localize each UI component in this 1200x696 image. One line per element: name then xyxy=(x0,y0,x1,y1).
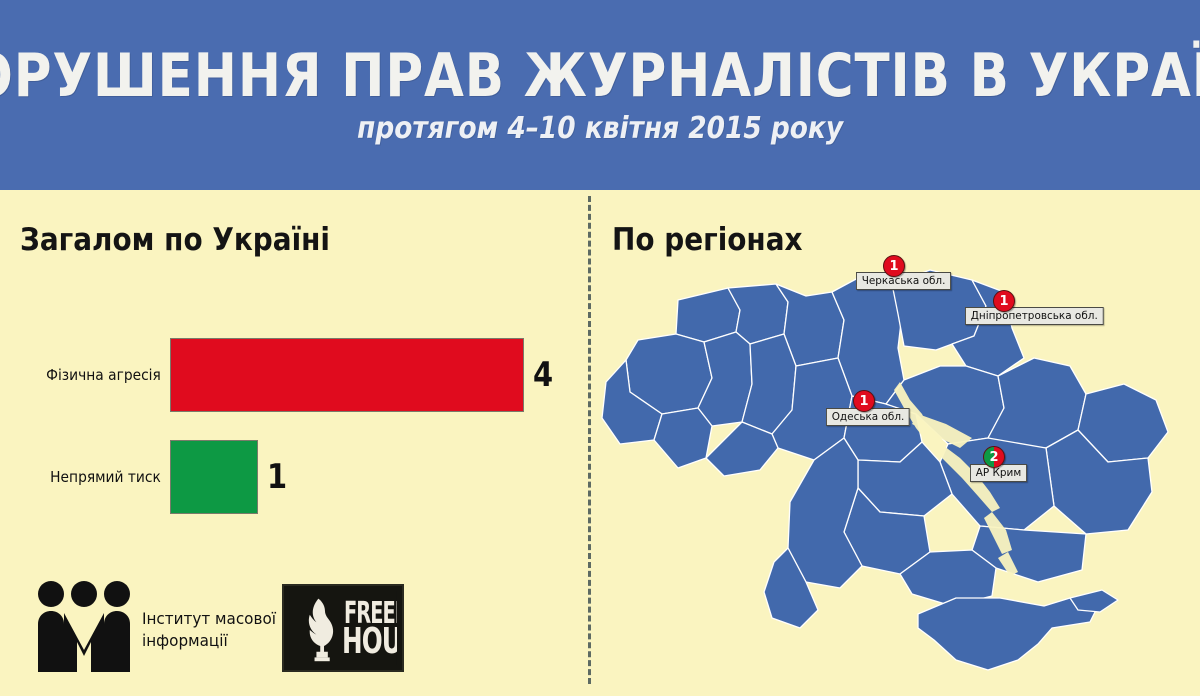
freedom-house-logo: FREEDOM HOUSE xyxy=(282,584,404,672)
imi-logo-label: Інститут масової інформації xyxy=(142,608,276,652)
map-marker-cherkasy[interactable]: 1 xyxy=(883,255,905,277)
ukraine-map: 1 Черкаська обл. 1 Дніпропетровська обл.… xyxy=(600,262,1200,682)
map-label-cherkasy[interactable]: Черкаська обл. xyxy=(856,272,951,290)
panel-divider xyxy=(588,196,591,684)
logo-strip: Інститут масової інформації FREEDOM HOUS… xyxy=(34,572,454,682)
ukraine-map-svg xyxy=(600,262,1200,682)
bar-label-indirect-pressure: Непрямий тиск xyxy=(14,468,170,486)
page-subtitle: протягом 4–10 квітня 2015 року xyxy=(357,113,843,145)
bar-label-physical-aggression: Фізична агресія xyxy=(14,366,170,384)
map-marker-dnipropetrovsk[interactable]: 1 xyxy=(993,290,1015,312)
map-marker-crimea[interactable]: 2 xyxy=(983,446,1005,468)
bar-chart: Фізична агресія 4 Непрямий тиск 1 xyxy=(0,318,588,518)
imi-logo-icon xyxy=(34,580,134,672)
bar-row: Непрямий тиск 1 xyxy=(0,440,291,514)
map-marker-count: 1 xyxy=(999,294,1008,309)
map-marker-count: 1 xyxy=(889,259,898,274)
right-panel-title: По регіонах xyxy=(612,222,803,258)
map-marker-count: 2 xyxy=(989,450,998,465)
bar-indirect-pressure xyxy=(170,440,258,514)
bar-value-physical-aggression: 4 xyxy=(533,355,553,395)
freedom-house-torch-icon: FREEDOM HOUSE xyxy=(289,591,397,665)
bar-value-indirect-pressure: 1 xyxy=(267,457,287,497)
map-label-dnipropetrovsk[interactable]: Дніпропетровська обл. xyxy=(965,307,1103,325)
bar-physical-aggression xyxy=(170,338,524,412)
left-panel-title: Загалом по Україні xyxy=(20,222,330,258)
infographic-page: ПОРУШЕННЯ ПРАВ ЖУРНАЛІСТІВ В УКРАЇНІ про… xyxy=(0,0,1200,696)
bar-row: Фізична агресія 4 xyxy=(0,338,557,412)
page-title: ПОРУШЕННЯ ПРАВ ЖУРНАЛІСТІВ В УКРАЇНІ xyxy=(0,45,1200,107)
svg-text:HOUSE: HOUSE xyxy=(342,620,397,662)
map-marker-odesa[interactable]: 1 xyxy=(853,390,875,412)
map-marker-count: 1 xyxy=(859,394,868,409)
header-banner: ПОРУШЕННЯ ПРАВ ЖУРНАЛІСТІВ В УКРАЇНІ про… xyxy=(0,0,1200,190)
